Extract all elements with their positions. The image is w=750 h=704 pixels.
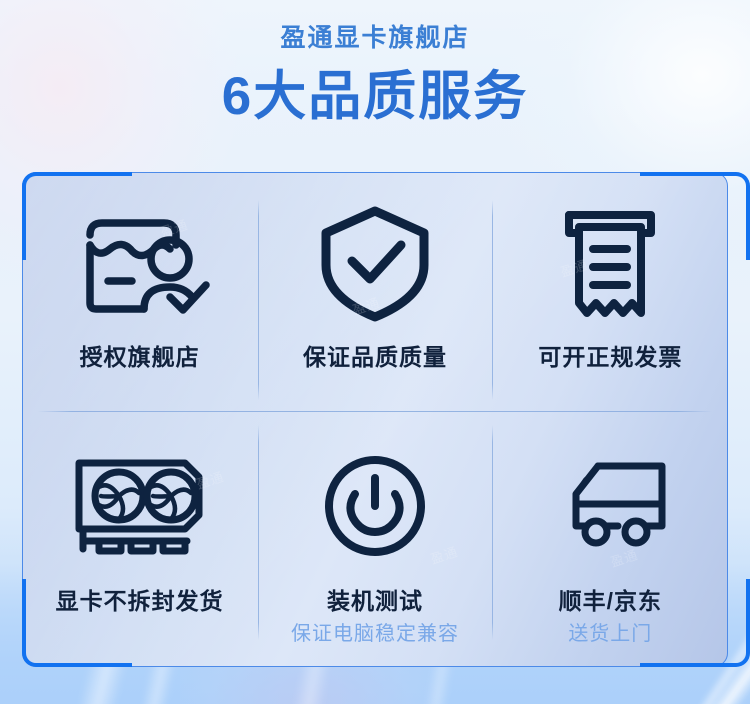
service-label: 保证品质质量	[303, 346, 447, 369]
service-sublabel: 送货上门	[568, 624, 652, 644]
service-label: 顺丰/京东	[559, 590, 662, 613]
service-label: 显卡不拆封发货	[56, 590, 224, 613]
service-label: 授权旗舰店	[80, 346, 200, 369]
service-item-delivery[interactable]: 顺丰/京东 送货上门	[493, 420, 728, 668]
receipt-invoice-icon	[555, 184, 665, 344]
storefront-verified-icon	[70, 184, 210, 344]
page-title: 6大品质服务	[0, 70, 750, 123]
shield-check-icon	[316, 184, 434, 344]
power-button-icon	[319, 426, 431, 586]
delivery-truck-icon	[546, 426, 674, 586]
service-item-assembly-test[interactable]: 装机测试 保证电脑稳定兼容	[257, 420, 492, 668]
service-item-sealed-gpu[interactable]: 显卡不拆封发货	[22, 420, 257, 668]
services-grid: 授权旗舰店 保证品质质量	[22, 172, 728, 667]
service-item-invoice[interactable]: 可开正规发票	[493, 172, 728, 420]
store-name: 盈通显卡旗舰店	[0, 26, 750, 51]
promo-banner: 盈通显卡旗舰店 6大品质服务 授权旗舰店	[0, 0, 750, 704]
service-sublabel: 保证电脑稳定兼容	[291, 624, 459, 644]
service-label: 可开正规发票	[538, 346, 682, 369]
service-label: 装机测试	[327, 590, 423, 613]
graphics-card-icon	[69, 426, 211, 586]
service-item-quality-guarantee[interactable]: 保证品质质量	[257, 172, 492, 420]
banner-header: 盈通显卡旗舰店 6大品质服务	[0, 0, 750, 123]
service-item-authorized-store[interactable]: 授权旗舰店	[22, 172, 257, 420]
services-card: 授权旗舰店 保证品质质量	[22, 172, 728, 667]
